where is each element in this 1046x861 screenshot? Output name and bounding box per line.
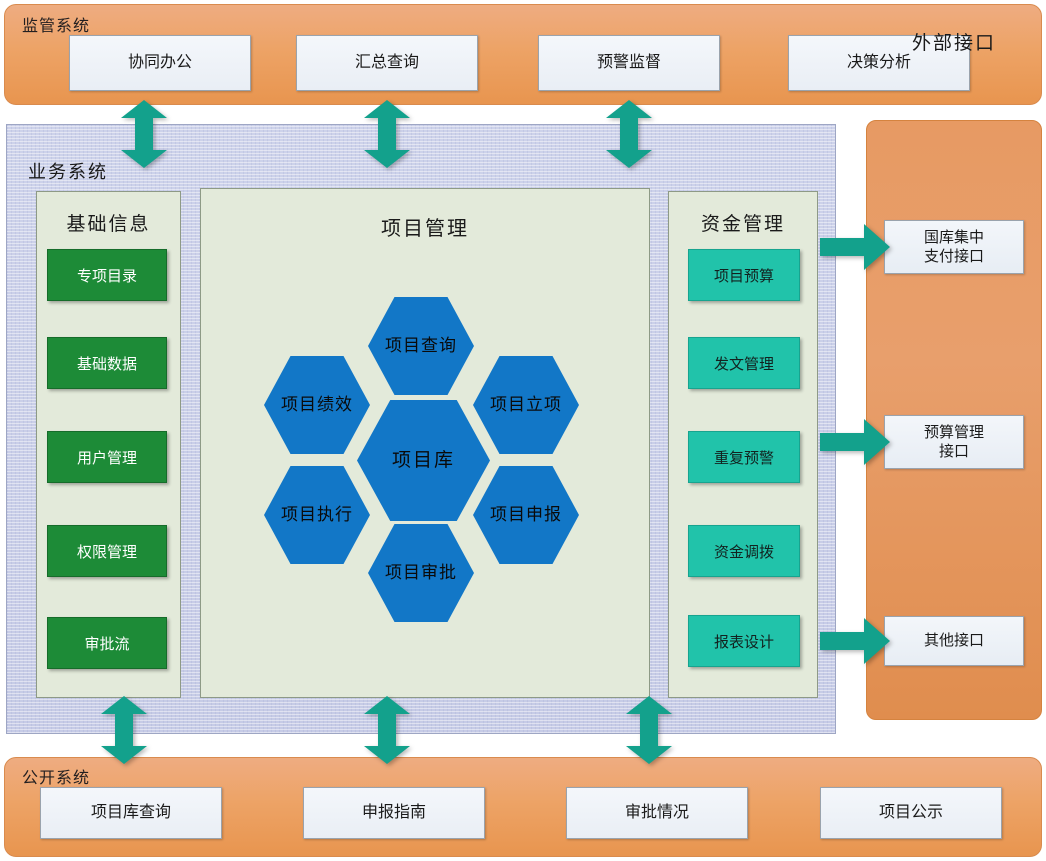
basic-info-item-2[interactable]: 用户管理 — [47, 431, 167, 483]
diagram-canvas: 监管系统 协同办公 汇总查询 预警监督 决策分析 业务系统 基础信息 专项目录 … — [0, 0, 1046, 861]
public-system-title: 公开系统 — [22, 764, 90, 788]
basic-info-item-0[interactable]: 专项目录 — [47, 249, 167, 301]
external-item-1-line1: 预算管理 — [924, 423, 984, 443]
external-item-2-line1: 其他接口 — [924, 631, 984, 651]
external-item-0-line1: 国库集中 — [924, 228, 984, 248]
hex-project-execution-label: 项目执行 — [281, 505, 353, 525]
external-item-1-line2: 接口 — [939, 442, 969, 462]
hex-project-application-label: 项目申报 — [490, 505, 562, 525]
hex-project-performance-label: 项目绩效 — [281, 395, 353, 415]
arrow-business-to-public-3 — [626, 696, 672, 764]
public-item-2[interactable]: 审批情况 — [566, 787, 748, 839]
arrow-fund-to-other-interface — [820, 618, 890, 664]
basic-info-title: 基础信息 — [36, 209, 181, 236]
arrow-business-to-public-2 — [364, 696, 410, 764]
basic-info-item-1[interactable]: 基础数据 — [47, 337, 167, 389]
external-item-0[interactable]: 国库集中 支付接口 — [884, 220, 1024, 274]
arrow-fund-to-treasury-interface — [820, 224, 890, 270]
public-item-0[interactable]: 项目库查询 — [40, 787, 222, 839]
business-system-title: 业务系统 — [28, 158, 108, 184]
external-item-2[interactable]: 其他接口 — [884, 616, 1024, 666]
public-item-3[interactable]: 项目公示 — [820, 787, 1002, 839]
supervision-item-1[interactable]: 汇总查询 — [296, 35, 478, 91]
arrow-supervision-to-business-3 — [606, 100, 652, 168]
hex-project-initiation-label: 项目立项 — [490, 395, 562, 415]
public-item-1[interactable]: 申报指南 — [303, 787, 485, 839]
supervision-system-title: 监管系统 — [22, 12, 90, 36]
fund-management-item-2[interactable]: 重复预警 — [688, 431, 800, 483]
project-management-title: 项目管理 — [200, 212, 650, 241]
arrow-fund-to-budget-interface — [820, 419, 890, 465]
supervision-item-0[interactable]: 协同办公 — [69, 35, 251, 91]
fund-management-item-0[interactable]: 项目预算 — [688, 249, 800, 301]
arrow-business-to-public-1 — [101, 696, 147, 764]
arrow-supervision-to-business-1 — [121, 100, 167, 168]
hex-project-library-label: 项目库 — [392, 450, 455, 472]
hex-project-approval-label: 项目审批 — [385, 563, 457, 583]
fund-management-title: 资金管理 — [668, 209, 818, 236]
external-interface-title: 外部接口 — [866, 28, 1042, 55]
fund-management-item-3[interactable]: 资金调拨 — [688, 525, 800, 577]
hex-project-query-label: 项目查询 — [385, 336, 457, 356]
supervision-item-2[interactable]: 预警监督 — [538, 35, 720, 91]
arrow-supervision-to-business-2 — [364, 100, 410, 168]
fund-management-item-4[interactable]: 报表设计 — [688, 615, 800, 667]
external-item-0-line2: 支付接口 — [924, 247, 984, 267]
fund-management-item-1[interactable]: 发文管理 — [688, 337, 800, 389]
basic-info-item-4[interactable]: 审批流 — [47, 617, 167, 669]
basic-info-item-3[interactable]: 权限管理 — [47, 525, 167, 577]
external-item-1[interactable]: 预算管理 接口 — [884, 415, 1024, 469]
